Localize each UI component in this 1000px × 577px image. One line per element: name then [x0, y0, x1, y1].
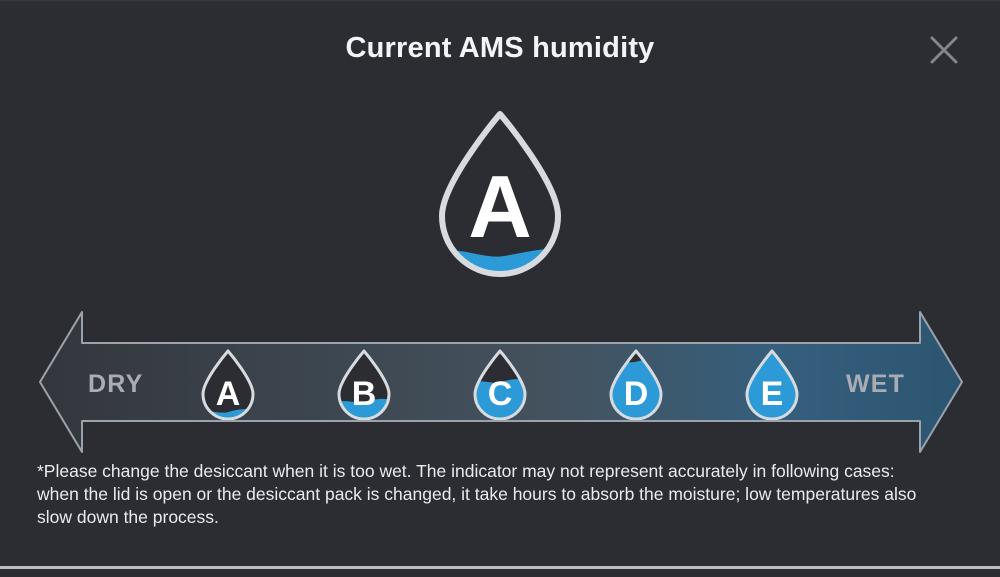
scale-droplet-c: C	[471, 348, 529, 420]
scale-label-dry: DRY	[88, 370, 143, 399]
current-humidity-droplet: A	[432, 106, 568, 281]
current-level-letter: A	[468, 157, 532, 256]
scale-droplet-e: E	[743, 348, 801, 420]
humidity-dialog: Current AMS humidity A	[0, 0, 1000, 577]
svg-text:A: A	[216, 375, 241, 413]
svg-text:D: D	[624, 375, 649, 413]
close-icon[interactable]	[920, 26, 968, 74]
svg-text:E: E	[761, 375, 784, 413]
window-under-edge	[0, 569, 1000, 577]
footnote-text: *Please change the desiccant when it is …	[37, 460, 943, 529]
window-top-edge	[0, 0, 1000, 2]
scale-label-wet: WET	[846, 370, 905, 399]
scale-droplet-a: A	[199, 348, 257, 420]
svg-text:B: B	[352, 375, 377, 413]
scale-droplet-b: B	[335, 348, 393, 420]
svg-text:C: C	[488, 375, 513, 413]
page-title: Current AMS humidity	[0, 32, 1000, 65]
scale-droplet-d: D	[607, 348, 665, 420]
